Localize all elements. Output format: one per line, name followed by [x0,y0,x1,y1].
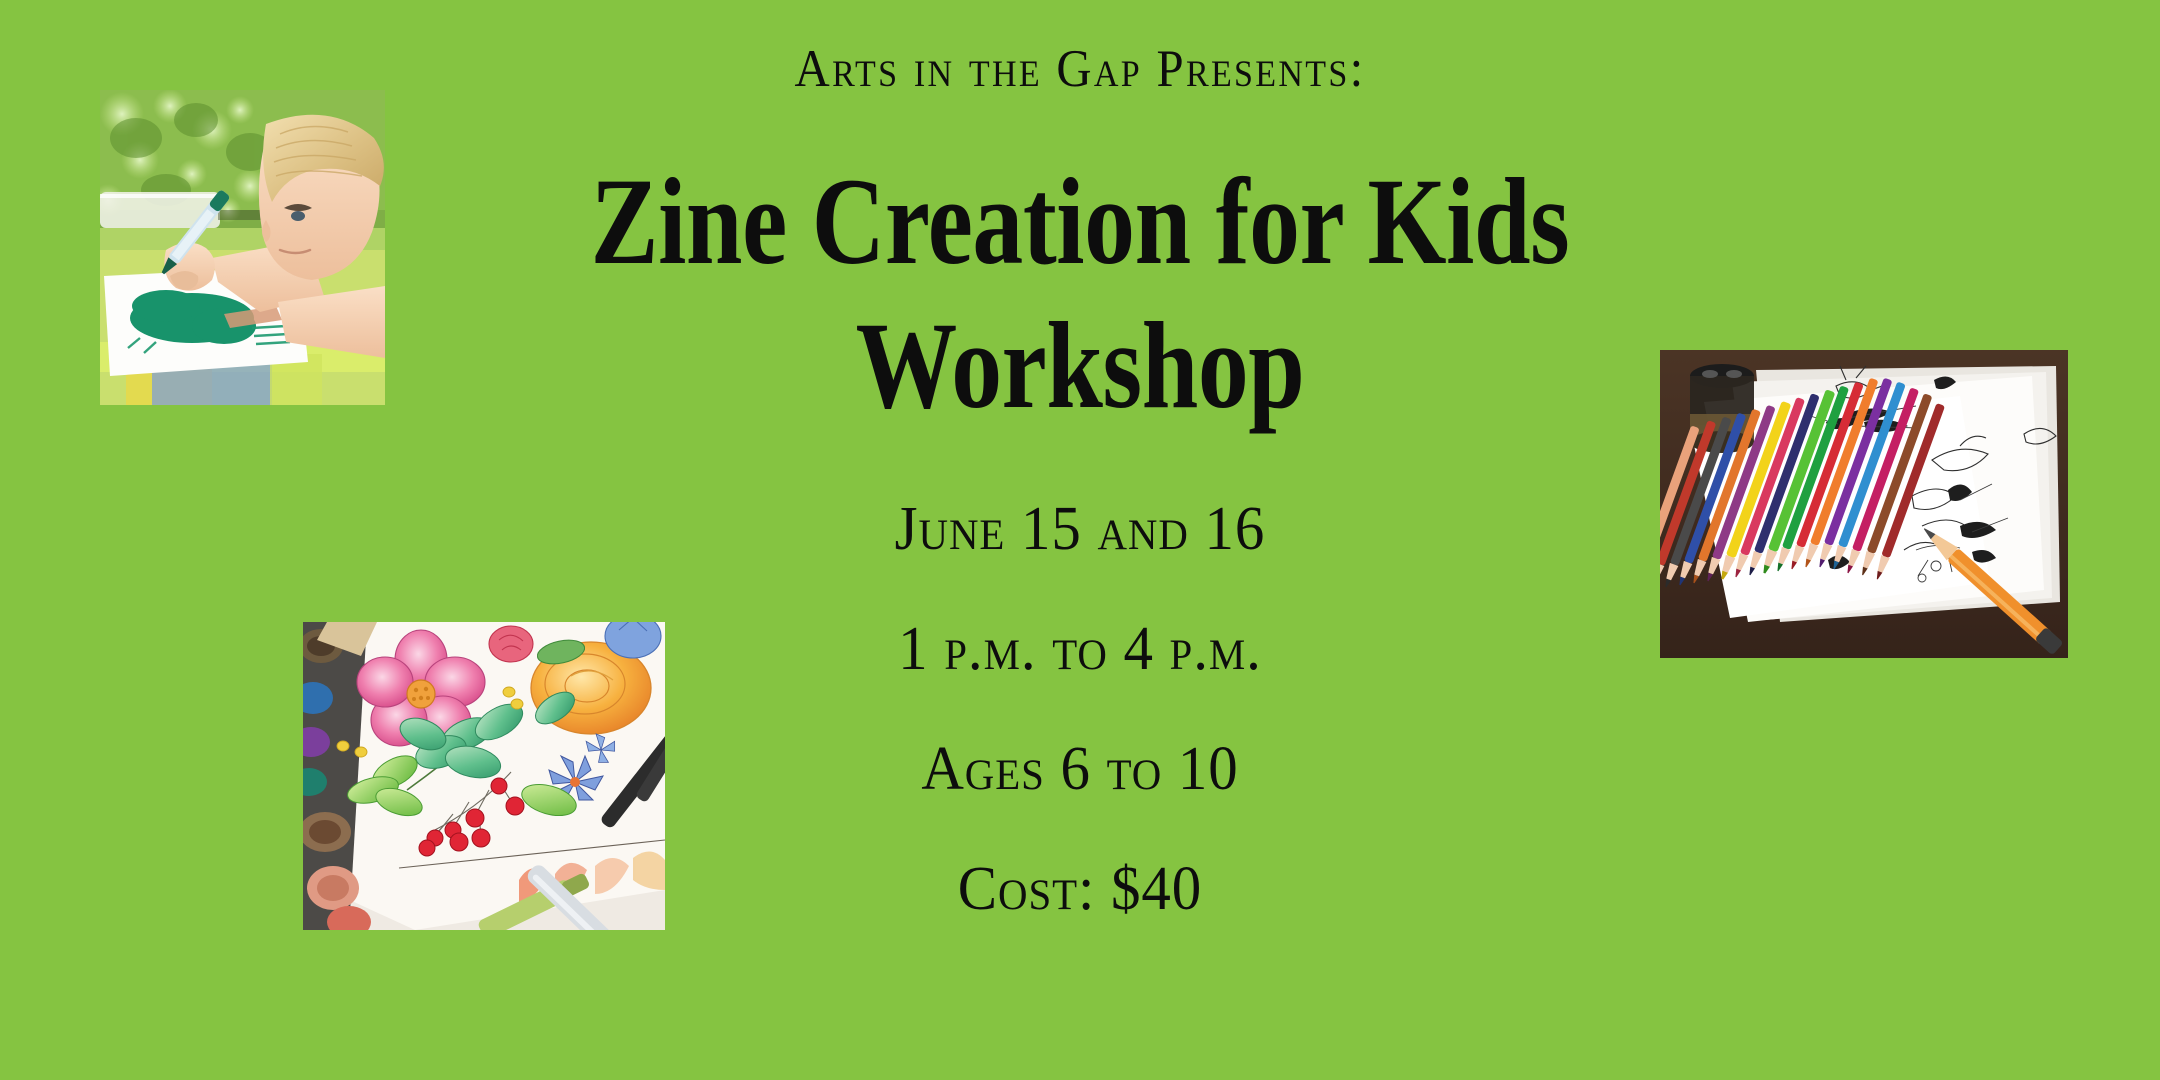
page-title-line-1: Zine Creation for Kids [588,150,1572,294]
detail-dates: June 15 and 16 [510,498,1650,560]
child-drawing-photo [100,90,385,405]
detail-cost: Cost: $40 [510,858,1650,920]
page-title-line-2: Workshop [588,294,1572,438]
flyer-canvas: Arts in the Gap Presents: Zine Creation … [0,0,2160,1080]
detail-time: 1 p.m. to 4 p.m. [510,618,1650,680]
flyer-text-block: Arts in the Gap Presents: Zine Creation … [480,0,1680,1080]
child-drawing-illustration [100,90,385,405]
colored-pencils-illustration [1660,350,2068,658]
colored-pencils-photo [1660,350,2068,658]
presenter-line: Arts in the Gap Presents: [528,42,1632,98]
page-title: Zine Creation for Kids Workshop [588,150,1572,438]
detail-ages: Ages 6 to 10 [510,738,1650,800]
